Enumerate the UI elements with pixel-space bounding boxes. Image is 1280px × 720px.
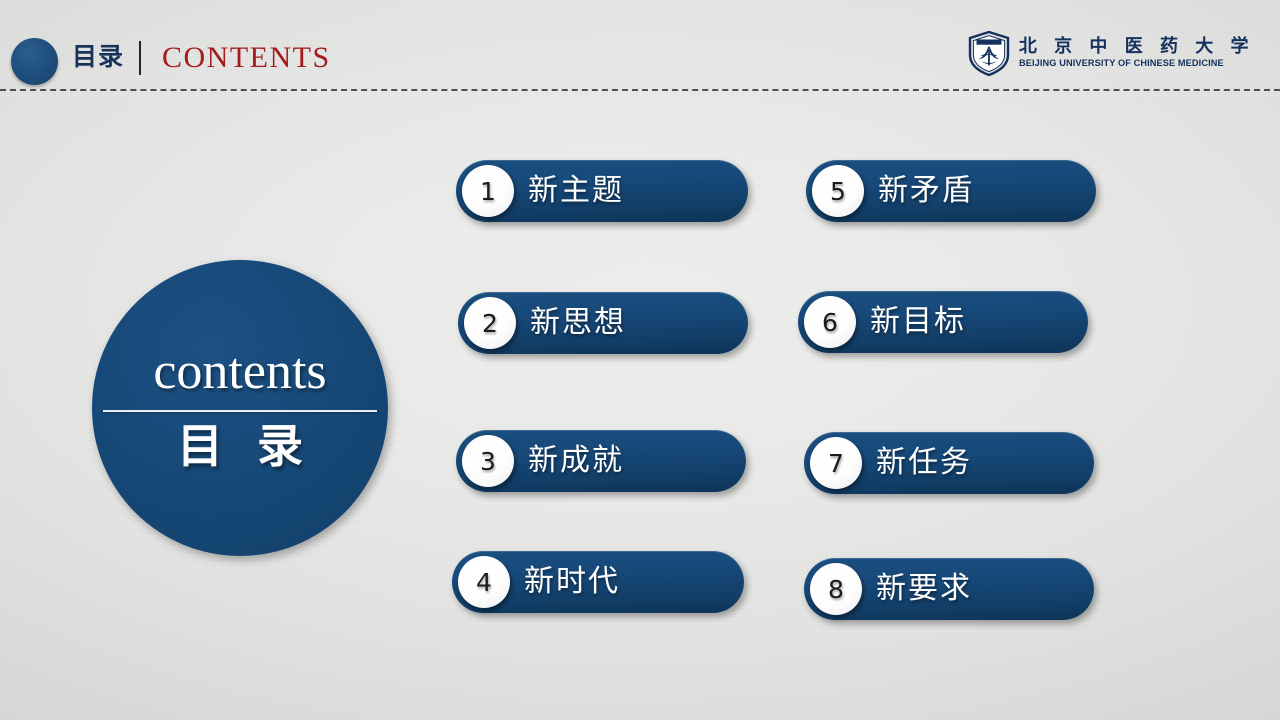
agenda-item-3[interactable]: 3 新成就 (456, 430, 746, 492)
university-logo: 北 京 中 医 药 大 学 BEIJING UNIVERSITY OF CHIN… (968, 31, 1254, 76)
contents-slide: 目录 CONTENTS 北 京 中 医 药 大 学 BEIJING UNI (0, 0, 1280, 720)
agenda-item-2[interactable]: 2 新思想 (458, 292, 748, 354)
agenda-item-7[interactable]: 7 新任务 (804, 432, 1094, 494)
page-title-cn: 目录 (72, 44, 124, 69)
agenda-item-6[interactable]: 6 新目标 (798, 291, 1088, 353)
agenda-item-8[interactable]: 8 新要求 (804, 558, 1094, 620)
agenda-item-5-number: 5 (812, 165, 864, 217)
agenda-item-4-number: 4 (458, 556, 510, 608)
university-shield-icon (968, 31, 1010, 76)
contents-circle-divider (103, 410, 377, 412)
university-logo-text: 北 京 中 医 药 大 学 BEIJING UNIVERSITY OF CHIN… (1019, 38, 1254, 69)
agenda-item-6-label: 新目标 (870, 307, 966, 337)
agenda-item-2-number: 2 (464, 297, 516, 349)
agenda-item-8-label: 新要求 (876, 574, 972, 604)
page-title-en: CONTENTS (162, 40, 331, 76)
circle-bullet-icon (11, 38, 58, 85)
contents-circle: contents 目 录 (92, 260, 388, 556)
agenda-item-4-label: 新时代 (524, 567, 620, 597)
agenda-item-4[interactable]: 4 新时代 (452, 551, 744, 613)
agenda-item-2-label: 新思想 (530, 308, 626, 338)
header-divider (0, 89, 1280, 91)
agenda-item-8-number: 8 (810, 563, 862, 615)
university-name-cn: 北 京 中 医 药 大 学 (1019, 38, 1254, 56)
contents-circle-title-en: contents (153, 346, 326, 398)
agenda-item-1[interactable]: 1 新主题 (456, 160, 748, 222)
university-name-en: BEIJING UNIVERSITY OF CHINESE MEDICINE (1019, 59, 1247, 69)
title-separator (139, 41, 141, 75)
agenda-item-6-number: 6 (804, 296, 856, 348)
agenda-item-7-label: 新任务 (876, 448, 972, 478)
contents-circle-title-cn: 目 录 (168, 422, 312, 470)
agenda-item-5-label: 新矛盾 (878, 176, 974, 206)
agenda-item-3-label: 新成就 (528, 446, 624, 476)
agenda-item-5[interactable]: 5 新矛盾 (806, 160, 1096, 222)
agenda-item-1-label: 新主题 (528, 176, 624, 206)
agenda-item-3-number: 3 (462, 435, 514, 487)
agenda-item-1-number: 1 (462, 165, 514, 217)
agenda-item-7-number: 7 (810, 437, 862, 489)
slide-header: 目录 CONTENTS 北 京 中 医 药 大 学 BEIJING UNI (0, 0, 1280, 88)
